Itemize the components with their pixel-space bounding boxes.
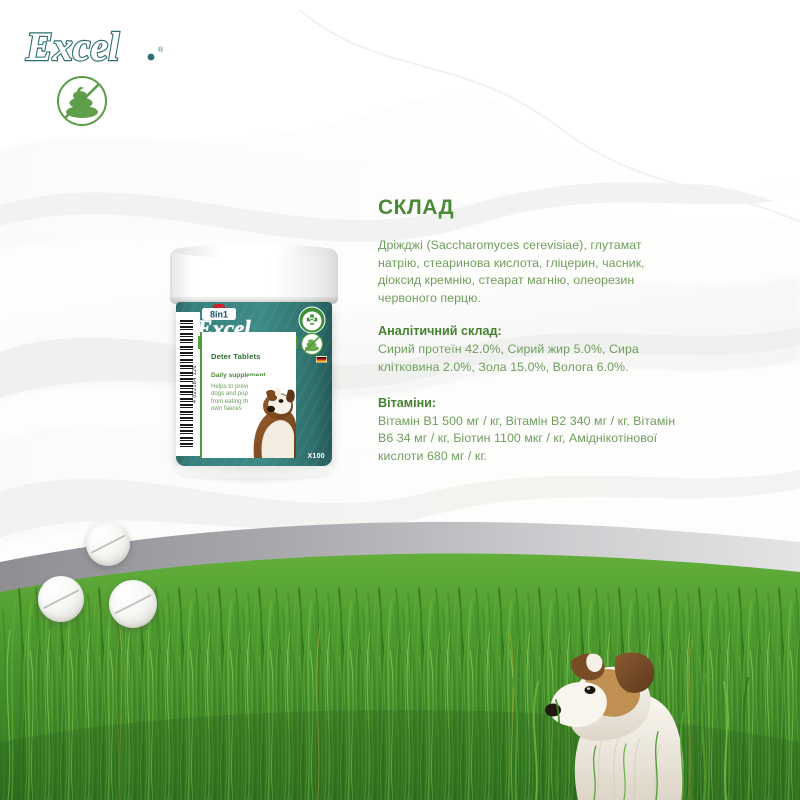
composition-text-block: СКЛАД Дріжджі (Saccharomyces cerevisiae)… xyxy=(378,196,678,481)
analytical-paragraph: Сирий протеїн 42.0%, Сирий жир 5.0%, Сир… xyxy=(378,341,678,376)
svg-text:®: ® xyxy=(158,46,164,54)
product-infographic: Excel Excel ® xyxy=(0,0,800,800)
analytical-heading: Аналітичний склад: xyxy=(378,323,678,340)
bottle-body: 4 022184 126 8in1 Excel Behavioral xyxy=(176,302,332,466)
label-dog-photo xyxy=(248,376,296,458)
svg-text:Excel: Excel xyxy=(25,24,120,69)
section-heading: СКЛАД xyxy=(378,196,678,219)
vitamins-heading: Вітаміни: xyxy=(378,395,678,412)
excel-logo: Excel Excel ® xyxy=(22,24,192,70)
de-flag-icon xyxy=(316,356,327,363)
vet-approved-badge xyxy=(298,306,326,334)
no-faeces-icon xyxy=(55,74,109,128)
dog-photo xyxy=(506,620,766,800)
bottle-label-card: Deter Tablets Daily supplement Helps to … xyxy=(200,332,296,458)
tablet xyxy=(109,580,157,628)
no-faeces-icon-on-bottle xyxy=(300,332,324,356)
tablet-count: X100 xyxy=(307,453,325,460)
tablet xyxy=(86,522,130,566)
product-name: Deter Tablets xyxy=(211,352,289,361)
brand-block: Excel Excel ® xyxy=(22,24,192,70)
bottle-base xyxy=(176,466,332,478)
composition-paragraph: Дріжджі (Saccharomyces cerevisiae), глут… xyxy=(378,237,678,307)
tablet xyxy=(38,576,84,622)
product-bottle: 4 022184 126 8in1 Excel Behavioral xyxy=(168,248,340,476)
bottle-cap xyxy=(170,248,338,304)
vitamins-paragraph: Вітамін B1 500 мг / кг, Вітамін B2 340 м… xyxy=(378,413,678,466)
